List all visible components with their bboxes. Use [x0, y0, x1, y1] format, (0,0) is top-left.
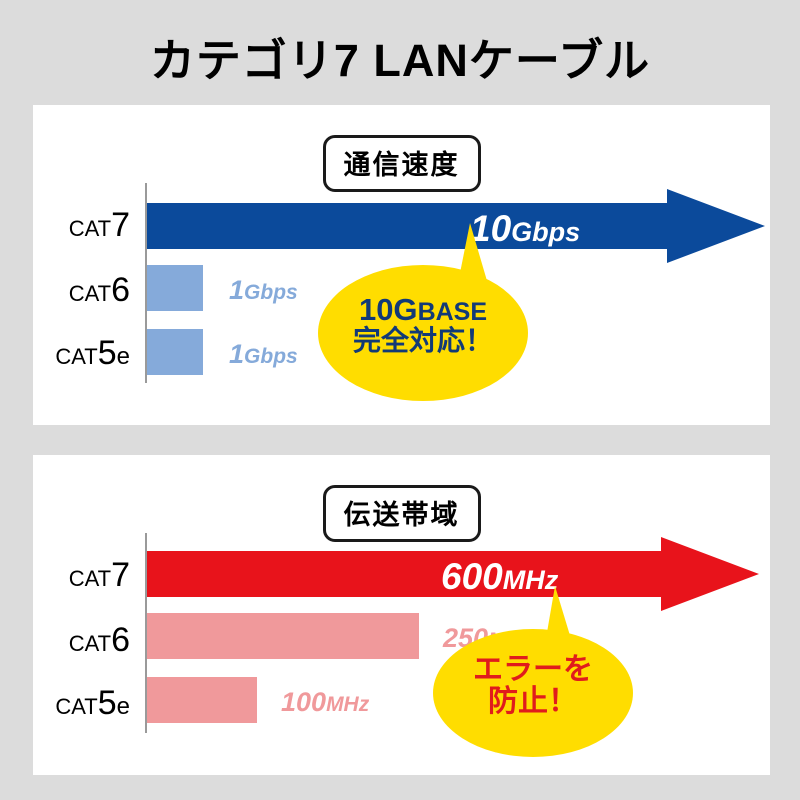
category-label-cat6-speed: CAT6 — [69, 273, 130, 307]
bar-cat5e-speed — [147, 329, 203, 375]
category-label-cat5e-speed: CAT5e — [55, 336, 130, 370]
panel-badge-speed: 通信速度 — [323, 135, 481, 192]
cat-number: 5 — [98, 334, 117, 372]
value-number: 100 — [281, 687, 326, 717]
panel-communication-speed: 通信速度 CAT7 CAT6 CAT5e 10Gbps 1Gbps 1Gbps … — [33, 105, 770, 425]
bar-cat6-bandwidth — [147, 613, 419, 659]
cat-suffix: e — [117, 343, 130, 370]
category-label-cat6-bandwidth: CAT6 — [69, 623, 130, 657]
value-label-cat7-speed: 10Gbps — [470, 210, 580, 247]
category-label-cat5e-bandwidth: CAT5e — [55, 686, 130, 720]
cat-prefix: CAT — [55, 694, 97, 719]
value-number: 600 — [441, 556, 503, 597]
cat-prefix: CAT — [55, 344, 97, 369]
cat-number: 6 — [111, 271, 130, 309]
cat-prefix: CAT — [69, 566, 111, 591]
value-label-cat6-speed: 1Gbps — [229, 277, 298, 304]
bar-cat6-speed — [147, 265, 203, 311]
cat-number: 7 — [111, 556, 130, 594]
panel-badge-bandwidth: 伝送帯域 — [323, 485, 481, 542]
value-unit: MHz — [326, 693, 369, 716]
cat-prefix: CAT — [69, 631, 111, 656]
value-label-cat7-bandwidth: 600MHz — [441, 558, 558, 595]
value-number: 1 — [229, 275, 244, 305]
cat-prefix: CAT — [69, 281, 111, 306]
category-label-cat7-bandwidth: CAT7 — [69, 558, 130, 592]
cat-number: 7 — [111, 206, 130, 244]
category-label-cat7-speed: CAT7 — [69, 208, 130, 242]
value-unit: Gbps — [244, 281, 298, 304]
value-unit: Gbps — [244, 345, 298, 368]
value-unit: MHz — [503, 565, 559, 595]
value-number: 10 — [470, 208, 511, 249]
cat-prefix: CAT — [69, 216, 111, 241]
value-label-cat5e-speed: 1Gbps — [229, 341, 298, 368]
callout-bubble-10gbase: 10GBASE 完全対応！ — [318, 245, 528, 405]
cat-number: 6 — [111, 621, 130, 659]
panel-transmission-bandwidth: 伝送帯域 CAT7 CAT6 CAT5e 600MHz 250MHz 100MH… — [33, 455, 770, 775]
cat-suffix: e — [117, 693, 130, 720]
value-label-cat5e-bandwidth: 100MHz — [281, 689, 369, 716]
callout-bubble-error-prevention: エラーを 防止！ — [433, 610, 633, 760]
bar-cat5e-bandwidth — [147, 677, 257, 723]
page-title: カテゴリ7 LANケーブル — [0, 24, 800, 89]
cat-number: 5 — [98, 684, 117, 722]
value-unit: Gbps — [511, 217, 580, 247]
value-number: 1 — [229, 339, 244, 369]
